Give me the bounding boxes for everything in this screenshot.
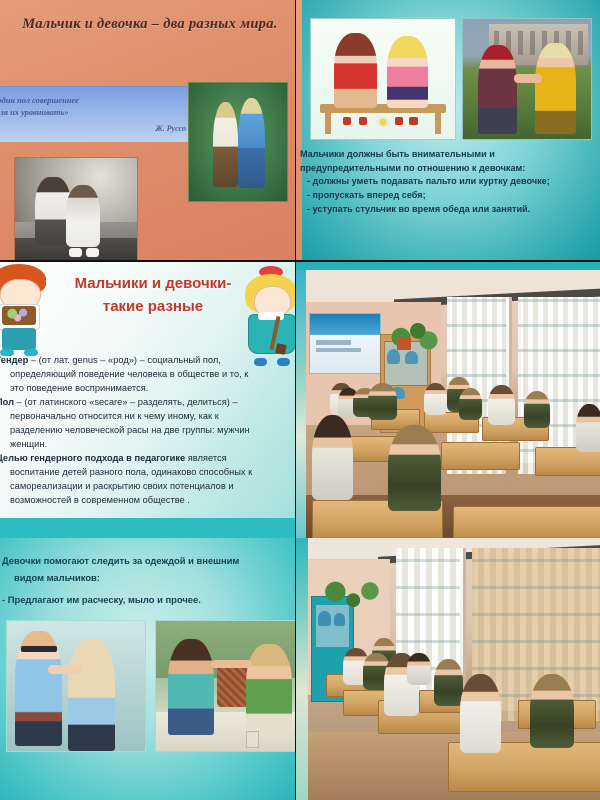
photo-girl-fixing-boys-bowtie — [6, 620, 146, 752]
girl-arm — [48, 665, 81, 674]
bullet-line-5: - уступать стульчик во время обеда или з… — [300, 203, 594, 216]
pupil-white-back-2 — [488, 385, 514, 425]
body-line-3: это поведение воспринимается. — [0, 382, 295, 395]
slide-heading: Мальчики и девочки- такие разные — [68, 272, 238, 319]
flower-icon — [376, 117, 390, 127]
slide-body-text: Гендер – (от лат. genus – «род») – социа… — [0, 354, 295, 509]
left-edge-strip — [296, 538, 308, 800]
flower-bouquet-icon — [2, 306, 37, 324]
picnic-boy — [168, 639, 214, 735]
cabinet-dish-1 — [387, 349, 400, 364]
poster-line-1 — [316, 340, 351, 345]
panel-bottom-strip — [0, 518, 295, 538]
boy-in-yellow-jacket — [535, 43, 576, 134]
bench-leg-left — [325, 110, 331, 134]
photo-collage: Мальчик и девочка – два разных мира. зя … — [0, 0, 600, 800]
cartoon-boy-girl-on-bench — [310, 18, 456, 140]
body-line-2: определяющий поведение человека в общест… — [0, 368, 295, 381]
term-gender: Гендер — [0, 355, 28, 365]
panel-slide-boys-and-girls-so-different: Мальчики и девочки- такие разные Гендер … — [0, 262, 295, 538]
cartoon-girl-figure — [387, 36, 427, 108]
body-line-8: Целью гендерного подхода в педагогике яв… — [0, 452, 295, 465]
photo-shoe-left — [69, 248, 82, 257]
pupil-girl-right — [576, 404, 600, 452]
photo-shoe-right — [86, 248, 99, 257]
body-line-11: возможностей в современном обществе . — [0, 494, 295, 507]
quote-box: зя считать один пол совершеннее о, так и… — [0, 86, 198, 142]
term-pol: Пол — [0, 397, 14, 407]
pupil-camo-center — [368, 383, 397, 421]
painting-girl-figure — [213, 102, 238, 187]
girl-feeding-arm — [211, 660, 252, 668]
wall-poster — [309, 313, 382, 374]
pupil-white-back-1 — [424, 383, 448, 415]
boy-trousers — [2, 328, 37, 350]
cartoon-girl-with-broom — [241, 266, 295, 366]
pupil-camo-front — [388, 425, 441, 511]
cartoon-boy-figure — [334, 33, 377, 107]
cabinet-dish-2 — [405, 351, 418, 365]
slide-title: Мальчик и девочка – два разных мира. — [10, 16, 290, 33]
bullet-line-1: Девочки помогают следить за одеждой и вн… — [2, 554, 290, 568]
cartoon-shoe-1 — [343, 117, 352, 124]
panel-classroom-photo-lower — [296, 538, 600, 800]
bullet-line-2: предупредительными по отношению к девочк… — [300, 162, 594, 175]
quote-author: Ж. Руссо — [0, 123, 192, 135]
body-line-4: Пол – (от латинского «secare» – разделят… — [0, 396, 295, 409]
pupil-girl-front — [312, 415, 353, 501]
pupil-girl-front — [460, 674, 501, 753]
body-line-6: разделению человеческой расы на две груп… — [0, 424, 295, 437]
photo-children-picnic — [155, 620, 295, 752]
sunglasses-icon — [21, 646, 57, 653]
cartoon-boy-with-flowers — [0, 264, 50, 356]
potted-plant — [385, 318, 438, 350]
photo-girl-figure — [66, 185, 100, 247]
quote-line-1: зя считать один пол совершеннее — [0, 95, 192, 107]
panel-left-edge-strip — [296, 0, 302, 260]
body-line-1-text: – (от лат. genus – «род») – социальный п… — [28, 355, 221, 365]
sepia-photo-boy-kissing-girl — [14, 157, 138, 260]
cartoon-shoe-3 — [395, 117, 404, 124]
pupil-camo-right — [530, 674, 574, 747]
classroom-scene — [308, 538, 600, 800]
classroom-scene — [306, 270, 600, 538]
pupil-camo-center — [434, 659, 463, 706]
bullet-line-1: Мальчики должны быть внимательными и — [300, 148, 594, 161]
slide-heading-line-1: Мальчики и девочки- — [75, 275, 232, 292]
painting-boy-figure — [238, 98, 265, 188]
body-line-4-text: – (от латинского «secare» – разделять, д… — [14, 397, 238, 407]
panel-slide-girls-help-boys: Девочки помогают следить за одеждой и вн… — [0, 538, 295, 800]
panel-classroom-photo-upper — [296, 262, 600, 538]
slide-bullet-list: Девочки помогают следить за одеждой и вн… — [0, 554, 295, 610]
body-line-1: Гендер – (от лат. genus – «род») – социа… — [0, 354, 295, 367]
pupil-back-dark — [407, 653, 430, 684]
term-goal-of-gender-approach: Целью гендерного подхода в педагогике — [0, 453, 185, 463]
painting-two-children-green — [188, 82, 288, 202]
photo-boy-giving-flower — [462, 18, 592, 140]
slide-heading-line-2: такие разные — [103, 298, 203, 315]
joined-hands — [514, 74, 542, 82]
bullet-line-2: видом мальчиков: — [2, 571, 290, 585]
cartoon-shoe-4 — [409, 117, 418, 124]
flower-pot — [397, 338, 411, 350]
panel-slide-boy-and-girl-two-worlds: Мальчик и девочка – два разных мира. зя … — [0, 0, 295, 260]
quote-line-2: о, так и нельзя их уравнивать» — [0, 107, 192, 119]
body-line-10: самореализации и раскрытию своих потенци… — [0, 480, 295, 493]
bullet-line-3: - должны уметь подавать пальто или куртк… — [300, 175, 594, 188]
slide-bullet-list: Мальчики должны быть внимательными и пре… — [296, 148, 600, 217]
cartoon-shoe-2 — [359, 117, 368, 124]
pupil-camo-back-3 — [524, 391, 550, 429]
bullet-line-3: - Предлагают им расческу, мыло и прочее. — [2, 593, 290, 607]
body-line-5: первоначально относится ни к чему иному,… — [0, 410, 295, 423]
girl-in-red-hat — [478, 45, 516, 134]
body-line-8-text: является — [185, 453, 227, 463]
poster-line-2 — [316, 348, 361, 352]
body-line-9: воспитание детей разного пола, одинаково… — [0, 466, 295, 479]
hanging-ivy-plant — [320, 575, 384, 617]
left-edge-strip — [296, 270, 306, 538]
picnic-cup — [246, 731, 260, 749]
picnic-girl — [246, 644, 292, 735]
pupil-camo-back-2 — [459, 388, 483, 420]
top-teal-strip — [296, 262, 600, 270]
desk-row-front-2 — [453, 506, 600, 538]
panel-slide-boys-must-be-attentive: Мальчики должны быть внимательными и пре… — [296, 0, 600, 260]
body-line-7: женщин. — [0, 438, 295, 451]
blonde-girl — [68, 639, 115, 751]
desk-row-mid-2 — [441, 442, 519, 471]
bullet-line-4: - пропускать вперед себя; — [300, 189, 594, 202]
bench-leg-right — [435, 110, 441, 134]
